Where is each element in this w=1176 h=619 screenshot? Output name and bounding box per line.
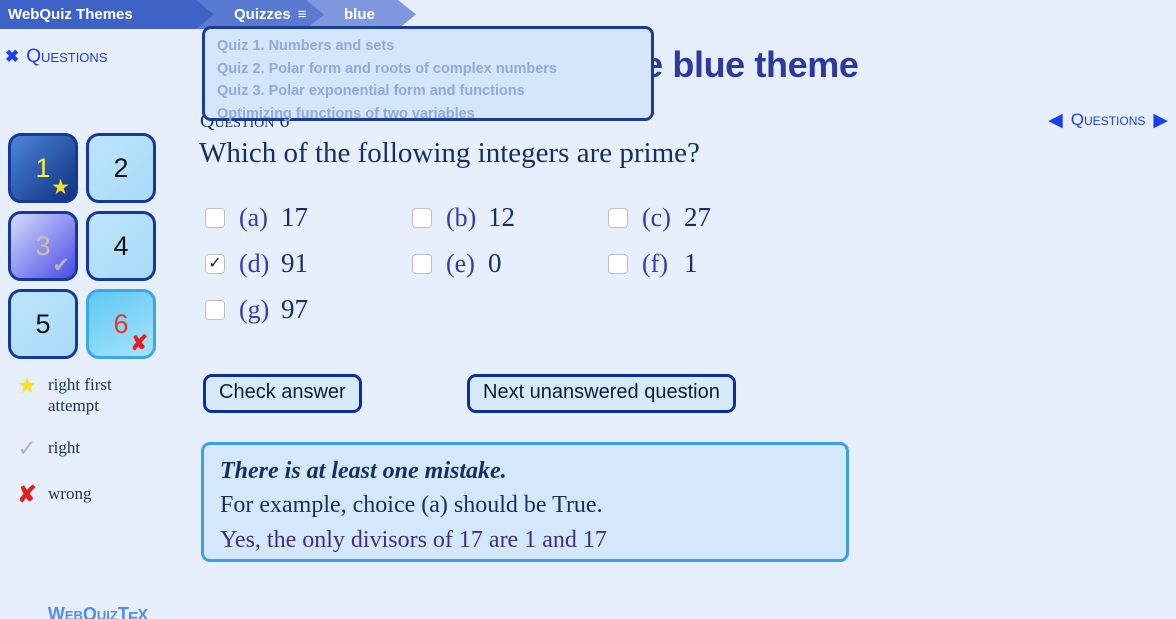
option-value: 97 (281, 294, 308, 325)
menu-item-optimizing[interactable]: Optimizing functions of two variables (217, 103, 651, 126)
footer-brand: WebQuizTEX (0, 605, 196, 619)
checkbox-f[interactable] (608, 254, 628, 274)
question-button-6[interactable]: 6 ✘ (86, 289, 156, 359)
sidebar-questions-label: Questions (26, 46, 107, 67)
option-key: (a) (225, 203, 281, 233)
question-button-4[interactable]: 4 (86, 211, 156, 281)
breadcrumb-label: Quizzes (234, 6, 291, 23)
quizzes-dropdown-menu[interactable]: Quiz 1. Numbers and sets Quiz 2. Polar f… (202, 26, 654, 121)
option-key: (d) (225, 249, 281, 279)
option-key: (f) (628, 249, 684, 279)
feedback-line-2: For example, choice (a) should be True. (220, 488, 846, 523)
checkbox-a[interactable] (205, 208, 225, 228)
star-icon: ★ (51, 177, 70, 198)
legend-row-check: ✓ right (8, 437, 188, 460)
legend-label: right (46, 437, 80, 458)
question-number: 2 (113, 153, 128, 184)
breadcrumb-label: blue (344, 6, 375, 23)
check-icon: ✓ (8, 437, 46, 460)
check-icon: ✔ (52, 255, 70, 276)
question-navigation[interactable]: ◀ Questions ▶ (1048, 110, 1168, 130)
question-number: 6 (113, 309, 128, 340)
footer-brand-e: E (128, 609, 139, 619)
feedback-line-1: There is at least one mistake. (220, 455, 846, 488)
question-number: 1 (35, 153, 50, 184)
check-answer-button[interactable]: Check answer (203, 374, 362, 413)
legend-label: right first attempt (46, 374, 156, 416)
footer-brand-text: WebQuizT (48, 604, 129, 619)
checkbox-c[interactable] (608, 208, 628, 228)
footer: WebQuizTEX © Copyright 2004-2019 (0, 605, 196, 619)
question-button-5[interactable]: 5 (8, 289, 78, 359)
question-text: Which of the following integers are prim… (199, 137, 700, 170)
menu-item-quiz2[interactable]: Quiz 2. Polar form and roots of complex … (217, 58, 651, 81)
prev-arrow-icon[interactable]: ◀ (1048, 111, 1063, 130)
option-a[interactable]: (a) 17 (205, 202, 308, 233)
next-unanswered-question-button[interactable]: Next unanswered question (467, 374, 736, 413)
option-g[interactable]: (g) 97 (205, 294, 308, 325)
option-key: (g) (225, 295, 281, 325)
cross-icon: ✘ (130, 333, 148, 354)
feedback-line-3: Yes, the only divisors of 17 are 1 and 1… (220, 523, 846, 558)
option-value: 0 (488, 248, 502, 279)
option-d[interactable]: ✓ (d) 91 (205, 248, 308, 279)
next-arrow-icon[interactable]: ▶ (1153, 111, 1168, 130)
hamburger-icon[interactable]: ≡ (298, 6, 307, 23)
checkbox-b[interactable] (412, 208, 432, 228)
option-value: 1 (684, 248, 698, 279)
option-value: 17 (281, 202, 308, 233)
menu-item-quiz3[interactable]: Quiz 3. Polar exponential form and funct… (217, 80, 651, 103)
checkbox-e[interactable] (412, 254, 432, 274)
question-number: 5 (35, 309, 50, 340)
question-button-3[interactable]: 3 ✔ (8, 211, 78, 281)
checkbox-g[interactable] (205, 300, 225, 320)
cross-icon: ✘ (8, 483, 46, 506)
sidebar-questions-toggle[interactable]: ✖Questions (5, 46, 107, 68)
legend-row-cross: ✘ wrong (8, 483, 188, 506)
sidebar: ✖Questions 1 ★ 2 3 ✔ 4 5 6 ✘ (0, 42, 196, 619)
feedback-box: There is at least one mistake. For examp… (201, 442, 849, 562)
checkbox-d[interactable]: ✓ (205, 254, 225, 274)
breadcrumb-label: WebQuiz Themes (8, 6, 133, 23)
close-icon[interactable]: ✖ (5, 47, 19, 66)
questions-nav-label: Questions (1071, 110, 1146, 130)
star-icon: ★ (8, 374, 46, 397)
option-key: (b) (432, 203, 488, 233)
option-e[interactable]: (e) 0 (412, 248, 502, 279)
option-key: (e) (432, 249, 488, 279)
option-value: 12 (488, 202, 515, 233)
question-button-2[interactable]: 2 (86, 133, 156, 203)
breadcrumb-webquiz-themes[interactable]: WebQuiz Themes (0, 0, 230, 29)
quiz-page: WebQuiz Themes Quizzes ≡ blue The blue t… (0, 0, 1176, 619)
menu-item-quiz1[interactable]: Quiz 1. Numbers and sets (217, 35, 651, 58)
legend-label: wrong (46, 483, 91, 504)
footer-brand-x: X (138, 607, 149, 619)
option-value: 27 (684, 202, 711, 233)
navbar: WebQuiz Themes Quizzes ≡ blue (0, 0, 1176, 29)
option-c[interactable]: (c) 27 (608, 202, 711, 233)
question-number: 3 (35, 231, 50, 262)
option-key: (c) (628, 203, 684, 233)
option-f[interactable]: (f) 1 (608, 248, 698, 279)
question-button-1[interactable]: 1 ★ (8, 133, 78, 203)
question-number: 4 (113, 231, 128, 262)
legend-row-star: ★ right first attempt (8, 374, 188, 416)
option-b[interactable]: (b) 12 (412, 202, 515, 233)
option-value: 91 (281, 248, 308, 279)
